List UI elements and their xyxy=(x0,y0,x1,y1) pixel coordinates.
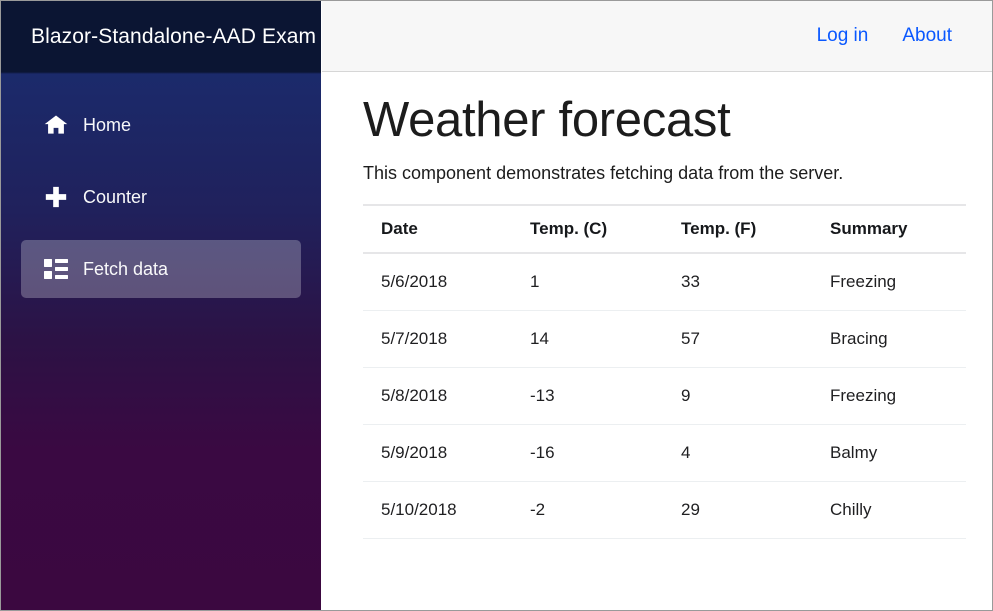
column-header-date: Date xyxy=(363,205,512,253)
page-subtitle: This component demonstrates fetching dat… xyxy=(363,163,964,184)
browser-page: Blazor-Standalone-AAD Exam Home xyxy=(0,0,993,611)
about-link[interactable]: About xyxy=(902,25,952,47)
sidebar-item-home[interactable]: Home xyxy=(21,96,301,154)
table-header-row: Date Temp. (C) Temp. (F) Summary xyxy=(363,205,966,253)
cell-temp-f: 29 xyxy=(663,481,812,538)
column-header-temp-c: Temp. (C) xyxy=(512,205,663,253)
plus-icon xyxy=(43,184,69,210)
sidebar-item-fetch-data[interactable]: Fetch data xyxy=(21,240,301,298)
table-row: 5/9/2018 -16 4 Balmy xyxy=(363,424,966,481)
cell-date: 5/7/2018 xyxy=(363,310,512,367)
cell-temp-c: -2 xyxy=(512,481,663,538)
cell-summary: Bracing xyxy=(812,310,966,367)
column-header-summary: Summary xyxy=(812,205,966,253)
brand-bar: Blazor-Standalone-AAD Exam xyxy=(1,1,321,72)
cell-temp-c: 1 xyxy=(512,253,663,311)
sidebar-item-label: Fetch data xyxy=(83,259,168,280)
weather-forecast-table: Date Temp. (C) Temp. (F) Summary 5/6/201… xyxy=(363,204,966,539)
table-body: 5/6/2018 1 33 Freezing 5/7/2018 14 57 Br… xyxy=(363,253,966,539)
column-header-temp-f: Temp. (F) xyxy=(663,205,812,253)
cell-temp-c: 14 xyxy=(512,310,663,367)
home-icon xyxy=(43,112,69,138)
cell-date: 5/6/2018 xyxy=(363,253,512,311)
sidebar-item-label: Home xyxy=(83,115,131,136)
cell-temp-f: 57 xyxy=(663,310,812,367)
cell-temp-f: 9 xyxy=(663,367,812,424)
cell-summary: Chilly xyxy=(812,481,966,538)
cell-date: 5/8/2018 xyxy=(363,367,512,424)
log-in-link[interactable]: Log in xyxy=(817,25,869,47)
sidebar-nav-list: Home Counter xyxy=(1,72,321,312)
table-row: 5/7/2018 14 57 Bracing xyxy=(363,310,966,367)
main-content: Weather forecast This component demonstr… xyxy=(322,72,992,610)
table-row: 5/10/2018 -2 29 Chilly xyxy=(363,481,966,538)
page-title: Weather forecast xyxy=(363,92,964,150)
sidebar-item-counter[interactable]: Counter xyxy=(21,168,301,226)
top-navigation-bar: Log in About xyxy=(322,1,992,72)
table-row: 5/6/2018 1 33 Freezing xyxy=(363,253,966,311)
cell-date: 5/10/2018 xyxy=(363,481,512,538)
table-row: 5/8/2018 -13 9 Freezing xyxy=(363,367,966,424)
cell-temp-c: -13 xyxy=(512,367,663,424)
cell-temp-c: -16 xyxy=(512,424,663,481)
cell-summary: Freezing xyxy=(812,253,966,311)
table-header: Date Temp. (C) Temp. (F) Summary xyxy=(363,205,966,253)
cell-summary: Freezing xyxy=(812,367,966,424)
sidebar-item-label: Counter xyxy=(83,187,147,208)
cell-temp-f: 4 xyxy=(663,424,812,481)
cell-temp-f: 33 xyxy=(663,253,812,311)
list-data-icon xyxy=(43,256,69,282)
cell-date: 5/9/2018 xyxy=(363,424,512,481)
sidebar-navigation: Blazor-Standalone-AAD Exam Home xyxy=(1,1,321,610)
cell-summary: Balmy xyxy=(812,424,966,481)
brand-title[interactable]: Blazor-Standalone-AAD Exam xyxy=(1,25,316,49)
